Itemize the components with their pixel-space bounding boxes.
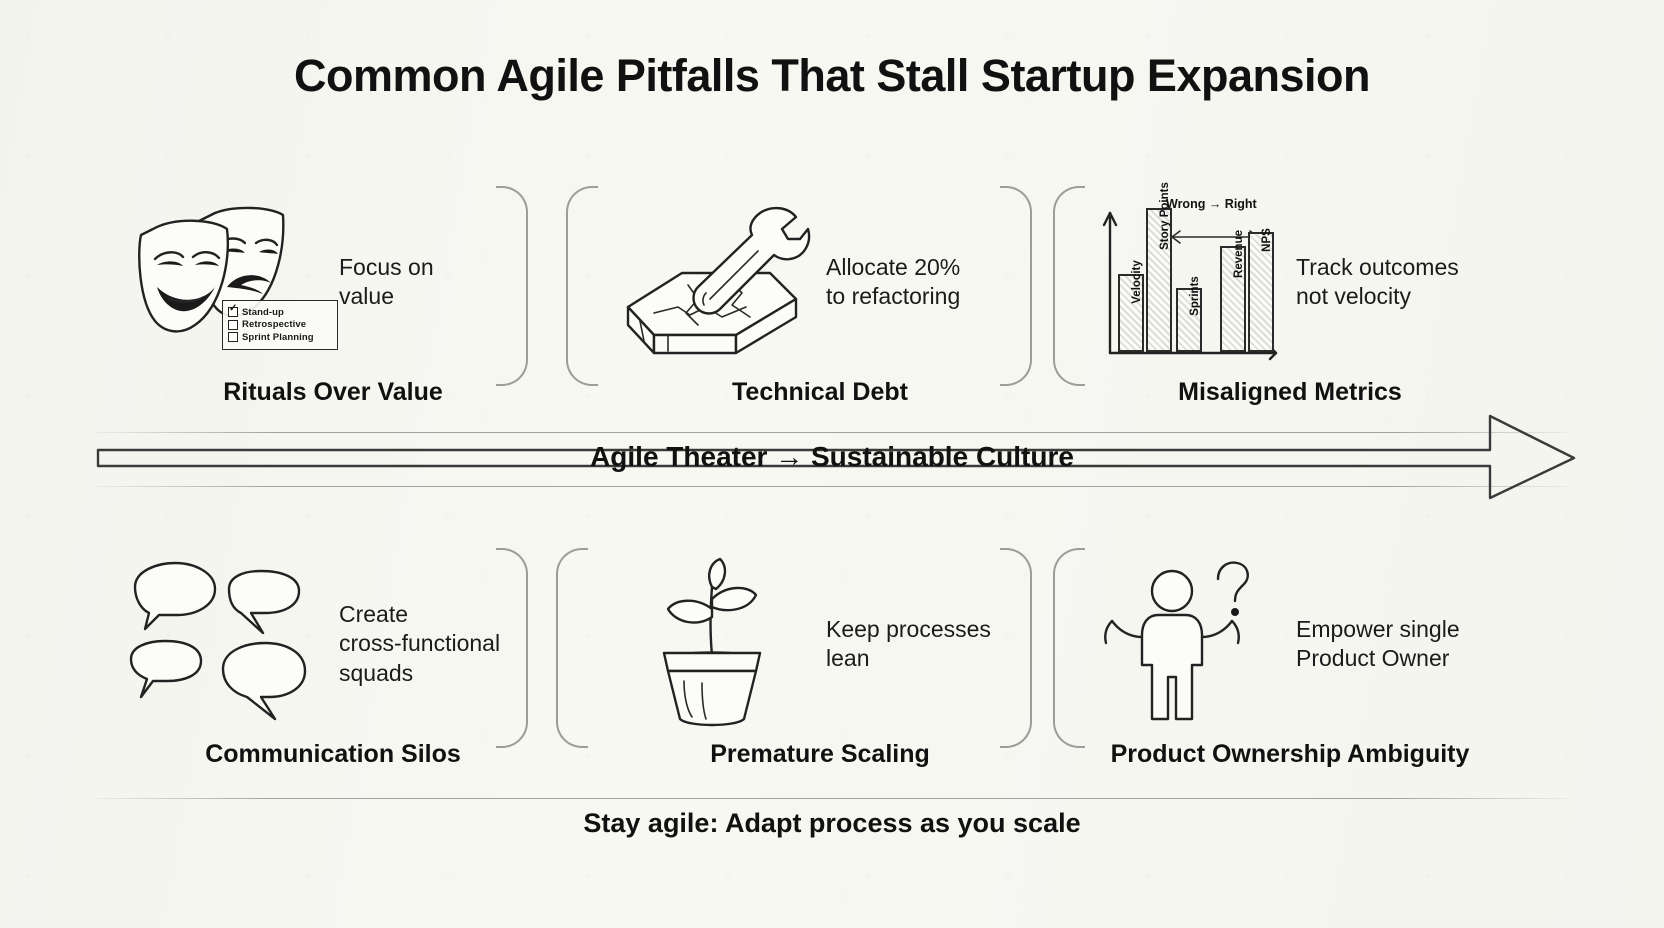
- speech-bubbles-icon: [118, 554, 333, 734]
- card-title: Rituals Over Value: [118, 378, 548, 407]
- rituals-checklist[interactable]: Stand-up Retrospective Sprint Planning: [222, 300, 338, 350]
- card-title: Premature Scaling: [605, 740, 1035, 769]
- card-title: Technical Debt: [605, 378, 1035, 407]
- theater-masks-icon: Stand-up Retrospective Sprint Planning: [118, 192, 333, 372]
- card-technical-debt[interactable]: Allocate 20% to refactoring Technical De…: [605, 192, 1035, 422]
- checkbox-checked-icon[interactable]: [228, 307, 238, 317]
- infographic-canvas: Common Agile Pitfalls That Stall Startup…: [0, 0, 1664, 928]
- divider-top: [96, 432, 1568, 433]
- card-body: Create cross-functional squads: [118, 554, 548, 734]
- card-body: Stand-up Retrospective Sprint Planning F…: [118, 192, 548, 372]
- checklist-item[interactable]: Sprint Planning: [228, 332, 332, 343]
- card-body: Allocate 20% to refactoring: [605, 192, 1035, 372]
- card-tip: Focus on value: [333, 253, 434, 312]
- card-tip-line: Track outcomes: [1296, 253, 1459, 282]
- checklist-item-label: Sprint Planning: [242, 332, 314, 343]
- wrench-cracked-block-icon: [605, 192, 820, 372]
- card-tip: Track outcomes not velocity: [1290, 253, 1459, 312]
- card-tip-line: Create: [339, 600, 500, 629]
- card-body: Keep processes lean: [605, 554, 1035, 734]
- bar-velocity: Velocity: [1118, 274, 1144, 352]
- checkbox-icon[interactable]: [228, 320, 238, 330]
- card-body: Empower single Product Owner: [1075, 554, 1505, 734]
- card-premature-scaling[interactable]: Keep processes lean Premature Scaling: [605, 554, 1035, 784]
- card-tip: Create cross-functional squads: [333, 600, 500, 688]
- card-tip-line: Allocate 20%: [826, 253, 960, 282]
- card-tip-line: Focus on: [339, 253, 434, 282]
- metrics-bar-chart: Wrong → Right Velocity Story Points Spri…: [1080, 195, 1285, 370]
- card-body: Wrong → Right Velocity Story Points Spri…: [1075, 192, 1505, 372]
- potted-seedling-icon: [605, 554, 820, 734]
- page-title: Common Agile Pitfalls That Stall Startup…: [0, 50, 1664, 102]
- card-tip-line: lean: [826, 644, 991, 673]
- card-misaligned-metrics[interactable]: Wrong → Right Velocity Story Points Spri…: [1075, 192, 1505, 422]
- card-tip-line: Keep processes: [826, 615, 991, 644]
- checklist-item[interactable]: Retrospective: [228, 319, 332, 330]
- card-tip-line: not velocity: [1296, 282, 1459, 311]
- card-tip: Keep processes lean: [820, 615, 991, 674]
- card-tip-line: squads: [339, 659, 500, 688]
- bar-label: Sprints: [1189, 276, 1201, 316]
- card-title: Product Ownership Ambiguity: [1075, 740, 1505, 769]
- bar-chart-icon: Wrong → Right Velocity Story Points Spri…: [1075, 192, 1290, 372]
- bar-label: Velocity: [1131, 260, 1143, 303]
- banner-text: Agile Theater → Sustainable Culture: [0, 441, 1664, 473]
- card-tip-line: to refactoring: [826, 282, 960, 311]
- card-title: Misaligned Metrics: [1075, 378, 1505, 407]
- card-tip-line: Empower single: [1296, 615, 1460, 644]
- bracket-separator: [566, 186, 598, 386]
- card-tip: Allocate 20% to refactoring: [820, 253, 960, 312]
- card-title: Communication Silos: [118, 740, 548, 769]
- checklist-item-label: Retrospective: [242, 319, 306, 330]
- bar-revenue: Revenue: [1220, 246, 1246, 352]
- card-product-ownership-ambiguity[interactable]: Empower single Product Owner Product Own…: [1075, 554, 1505, 784]
- bar-label: Story Points: [1159, 182, 1171, 250]
- card-communication-silos[interactable]: Create cross-functional squads Communica…: [118, 554, 548, 784]
- bar-sprints: Sprints: [1176, 288, 1202, 352]
- card-rituals-over-value[interactable]: Stand-up Retrospective Sprint Planning F…: [118, 192, 548, 422]
- shrugging-person-question-icon: [1075, 554, 1290, 734]
- divider-footer: [96, 798, 1568, 799]
- bar-story-points: Story Points: [1146, 208, 1172, 352]
- card-tip-line: cross-functional: [339, 629, 500, 658]
- checklist-item[interactable]: Stand-up: [228, 307, 332, 318]
- bar-label: Revenue: [1233, 230, 1245, 278]
- footer-text: Stay agile: Adapt process as you scale: [0, 808, 1664, 839]
- checklist-item-label: Stand-up: [242, 307, 284, 318]
- chart-annotation: Wrong → Right: [1166, 197, 1257, 211]
- checkbox-icon[interactable]: [228, 332, 238, 342]
- bar-nps: NPS: [1248, 232, 1274, 352]
- card-tip: Empower single Product Owner: [1290, 615, 1460, 674]
- divider-mid: [96, 486, 1568, 487]
- bracket-separator: [496, 186, 528, 386]
- bracket-separator: [556, 548, 588, 748]
- card-tip-line: value: [339, 282, 434, 311]
- card-tip-line: Product Owner: [1296, 644, 1460, 673]
- bar-label: NPS: [1261, 228, 1273, 252]
